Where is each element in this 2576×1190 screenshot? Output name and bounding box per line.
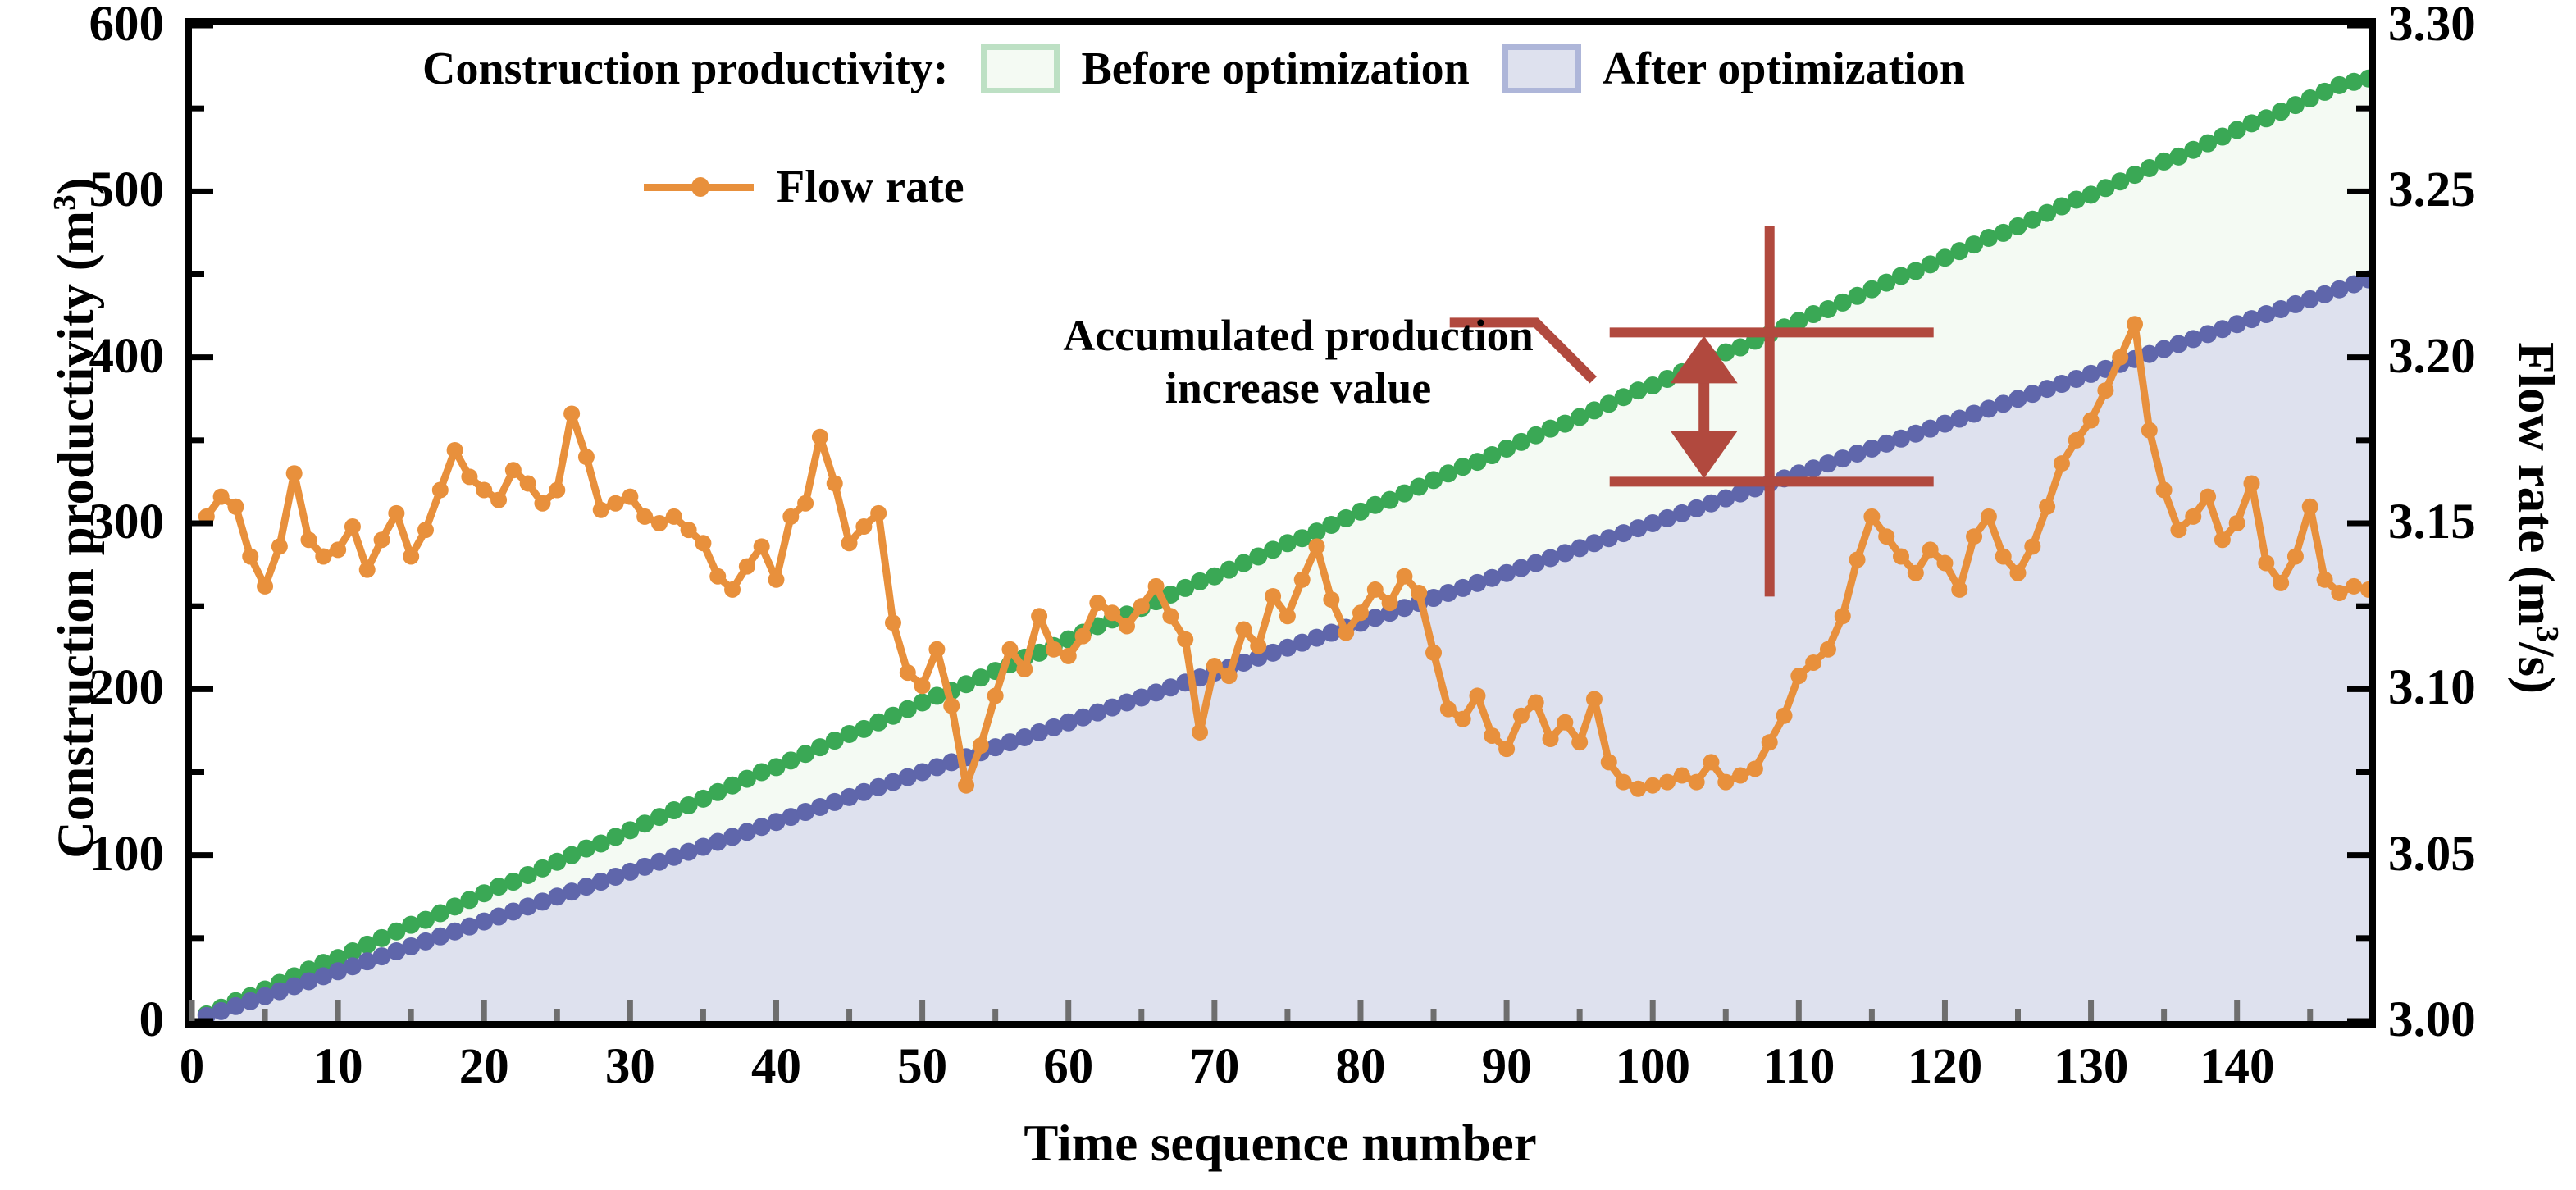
legend-flow-rate: Flow rate xyxy=(644,157,964,217)
legend-group-label: Construction productivity: xyxy=(422,43,948,95)
y-axis-left-tick: 600 xyxy=(0,0,164,53)
y-axis-right-tick: 3.00 xyxy=(2388,992,2576,1049)
y-axis-right-tick: 3.25 xyxy=(2388,162,2576,219)
x-axis-tick: 70 xyxy=(1149,1038,1280,1096)
x-axis-title: Time sequence number xyxy=(185,1114,2376,1174)
legend-label-before: Before optimization xyxy=(1081,43,1469,95)
y-axis-left-tick: 300 xyxy=(0,494,164,551)
x-axis-tick: 130 xyxy=(2026,1038,2157,1096)
legend-swatch-after[interactable] xyxy=(1502,44,1581,93)
x-axis-tick: 80 xyxy=(1295,1038,1426,1096)
chart-canvas xyxy=(0,0,2576,1190)
y-axis-right-tick: 3.05 xyxy=(2388,826,2576,883)
x-axis-tick: 100 xyxy=(1587,1038,1718,1096)
legend-swatch-before[interactable] xyxy=(981,44,1060,93)
y-axis-left-tick: 200 xyxy=(0,659,164,717)
x-axis-tick: 0 xyxy=(126,1038,258,1096)
y-axis-left-tick: 400 xyxy=(0,328,164,385)
x-axis-tick: 60 xyxy=(1003,1038,1134,1096)
annotation-text: Accumulated production increase value xyxy=(1015,310,1581,414)
y-axis-right-tick: 3.15 xyxy=(2388,494,2576,551)
x-axis-tick: 10 xyxy=(272,1038,403,1096)
legend-label-after: After optimization xyxy=(1603,43,1965,95)
legend-marker-flow-rate[interactable] xyxy=(644,162,754,212)
x-axis-tick: 90 xyxy=(1441,1038,1572,1096)
annotation-line-1: Accumulated production xyxy=(1015,310,1581,362)
x-axis-tick: 120 xyxy=(1879,1038,2010,1096)
y-axis-right-title-sup: 3 xyxy=(2530,626,2565,642)
y-axis-right-tick: 3.30 xyxy=(2388,0,2576,53)
annotation-line-2: increase value xyxy=(1015,362,1581,415)
legend-productivity: Construction productivity: Before optimi… xyxy=(422,39,1965,98)
x-axis-tick: 40 xyxy=(710,1038,841,1096)
x-axis-tick: 110 xyxy=(1733,1038,1864,1096)
x-axis-tick: 140 xyxy=(2172,1038,2303,1096)
y-axis-left-tick: 100 xyxy=(0,826,164,883)
y-axis-right-tick: 3.20 xyxy=(2388,328,2576,385)
chart-root: Construction productivity (m3) Flow rate… xyxy=(0,0,2576,1190)
x-axis-tick: 50 xyxy=(857,1038,988,1096)
x-axis-tick: 30 xyxy=(564,1038,695,1096)
y-axis-left-tick: 500 xyxy=(0,162,164,219)
y-axis-right-tick: 3.10 xyxy=(2388,659,2576,717)
x-axis-tick: 20 xyxy=(418,1038,549,1096)
legend-flow-dot-icon xyxy=(691,177,709,197)
legend-label-flow-rate: Flow rate xyxy=(777,161,964,213)
